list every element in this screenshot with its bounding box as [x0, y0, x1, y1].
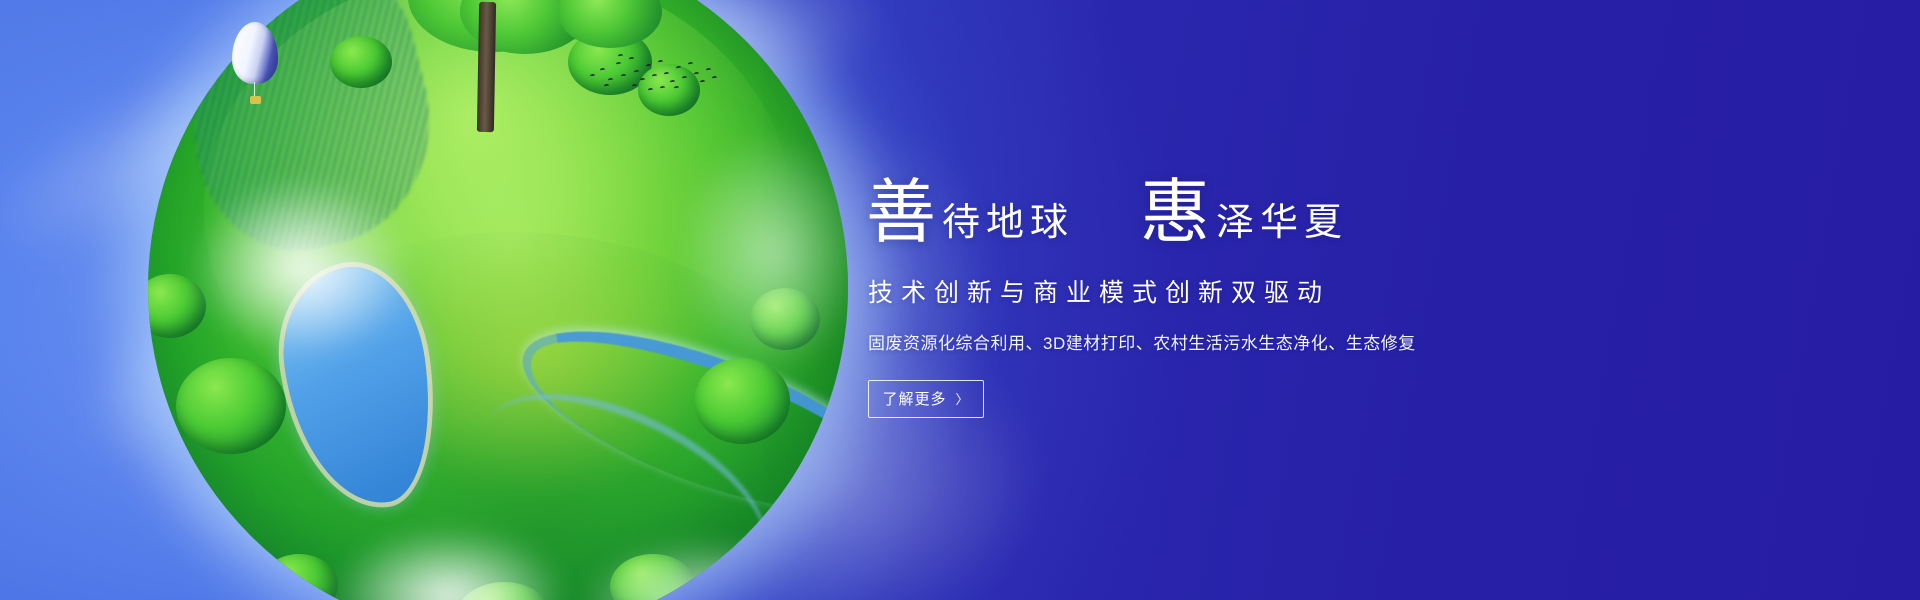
bird-flock-icon [588, 48, 718, 96]
balloon-rope [254, 82, 255, 97]
hero-description: 固废资源化综合利用、3D建材打印、农村生活污水生态净化、生态修复 [862, 329, 1562, 354]
bird-icon [616, 62, 621, 66]
headline-char-shan: 善 [866, 182, 936, 246]
bird-icon [676, 66, 681, 70]
cloud-mist [680, 134, 848, 372]
bird-icon [629, 57, 634, 61]
tree-canopy [558, 0, 662, 48]
hero-banner: 善 待地球 惠 泽华夏 技术创新与商业模式创新双驱动 固废资源化综合利用、3D建… [0, 0, 1920, 600]
headline-rest-zehuaxia: 泽华夏 [1216, 204, 1348, 247]
bird-icon [648, 88, 653, 92]
learn-more-label: 了解更多 [882, 388, 946, 409]
bird-icon [590, 74, 595, 78]
bird-icon [646, 64, 651, 68]
headline-char-hui: 惠 [1140, 182, 1210, 246]
balloon-envelope [232, 22, 278, 84]
hot-air-balloon-icon [232, 22, 278, 108]
tree-trunk [477, 2, 496, 132]
learn-more-button[interactable]: 了解更多 〉 [868, 380, 984, 418]
bird-icon [660, 86, 665, 90]
bird-icon [694, 72, 699, 76]
balloon-basket [250, 96, 261, 104]
bird-icon [712, 76, 717, 80]
bird-icon [618, 54, 623, 58]
chevron-right-icon: 〉 [956, 389, 970, 408]
tree-clump-icon [176, 358, 286, 454]
bird-icon [664, 72, 669, 76]
bird-icon [670, 80, 675, 84]
bird-icon [632, 84, 637, 88]
bird-icon [682, 76, 687, 80]
cloud-mist [190, 176, 414, 358]
bird-icon [652, 74, 657, 78]
bird-icon [688, 62, 693, 66]
page-title: 善 待地球 惠 泽华夏 [862, 182, 1562, 246]
bird-icon [634, 70, 639, 74]
hero-subtitle: 技术创新与商业模式创新双驱动 [862, 273, 1562, 309]
bird-icon [600, 68, 605, 72]
headline-phrase-2: 惠 泽华夏 [1140, 182, 1348, 246]
bird-icon [706, 68, 711, 72]
bird-icon [604, 84, 609, 88]
bird-icon [621, 74, 626, 78]
bird-icon [674, 86, 679, 90]
hero-copy: 善 待地球 惠 泽华夏 技术创新与商业模式创新双驱动 固废资源化综合利用、3D建… [862, 0, 1562, 600]
bird-icon [700, 80, 705, 84]
bird-icon [608, 78, 613, 82]
bird-icon [640, 78, 645, 82]
headline-rest-daidiqiu: 待地球 [942, 204, 1074, 247]
bird-icon [658, 60, 663, 64]
headline-phrase-1: 善 待地球 [866, 182, 1074, 246]
tree-clump-icon [330, 36, 392, 88]
